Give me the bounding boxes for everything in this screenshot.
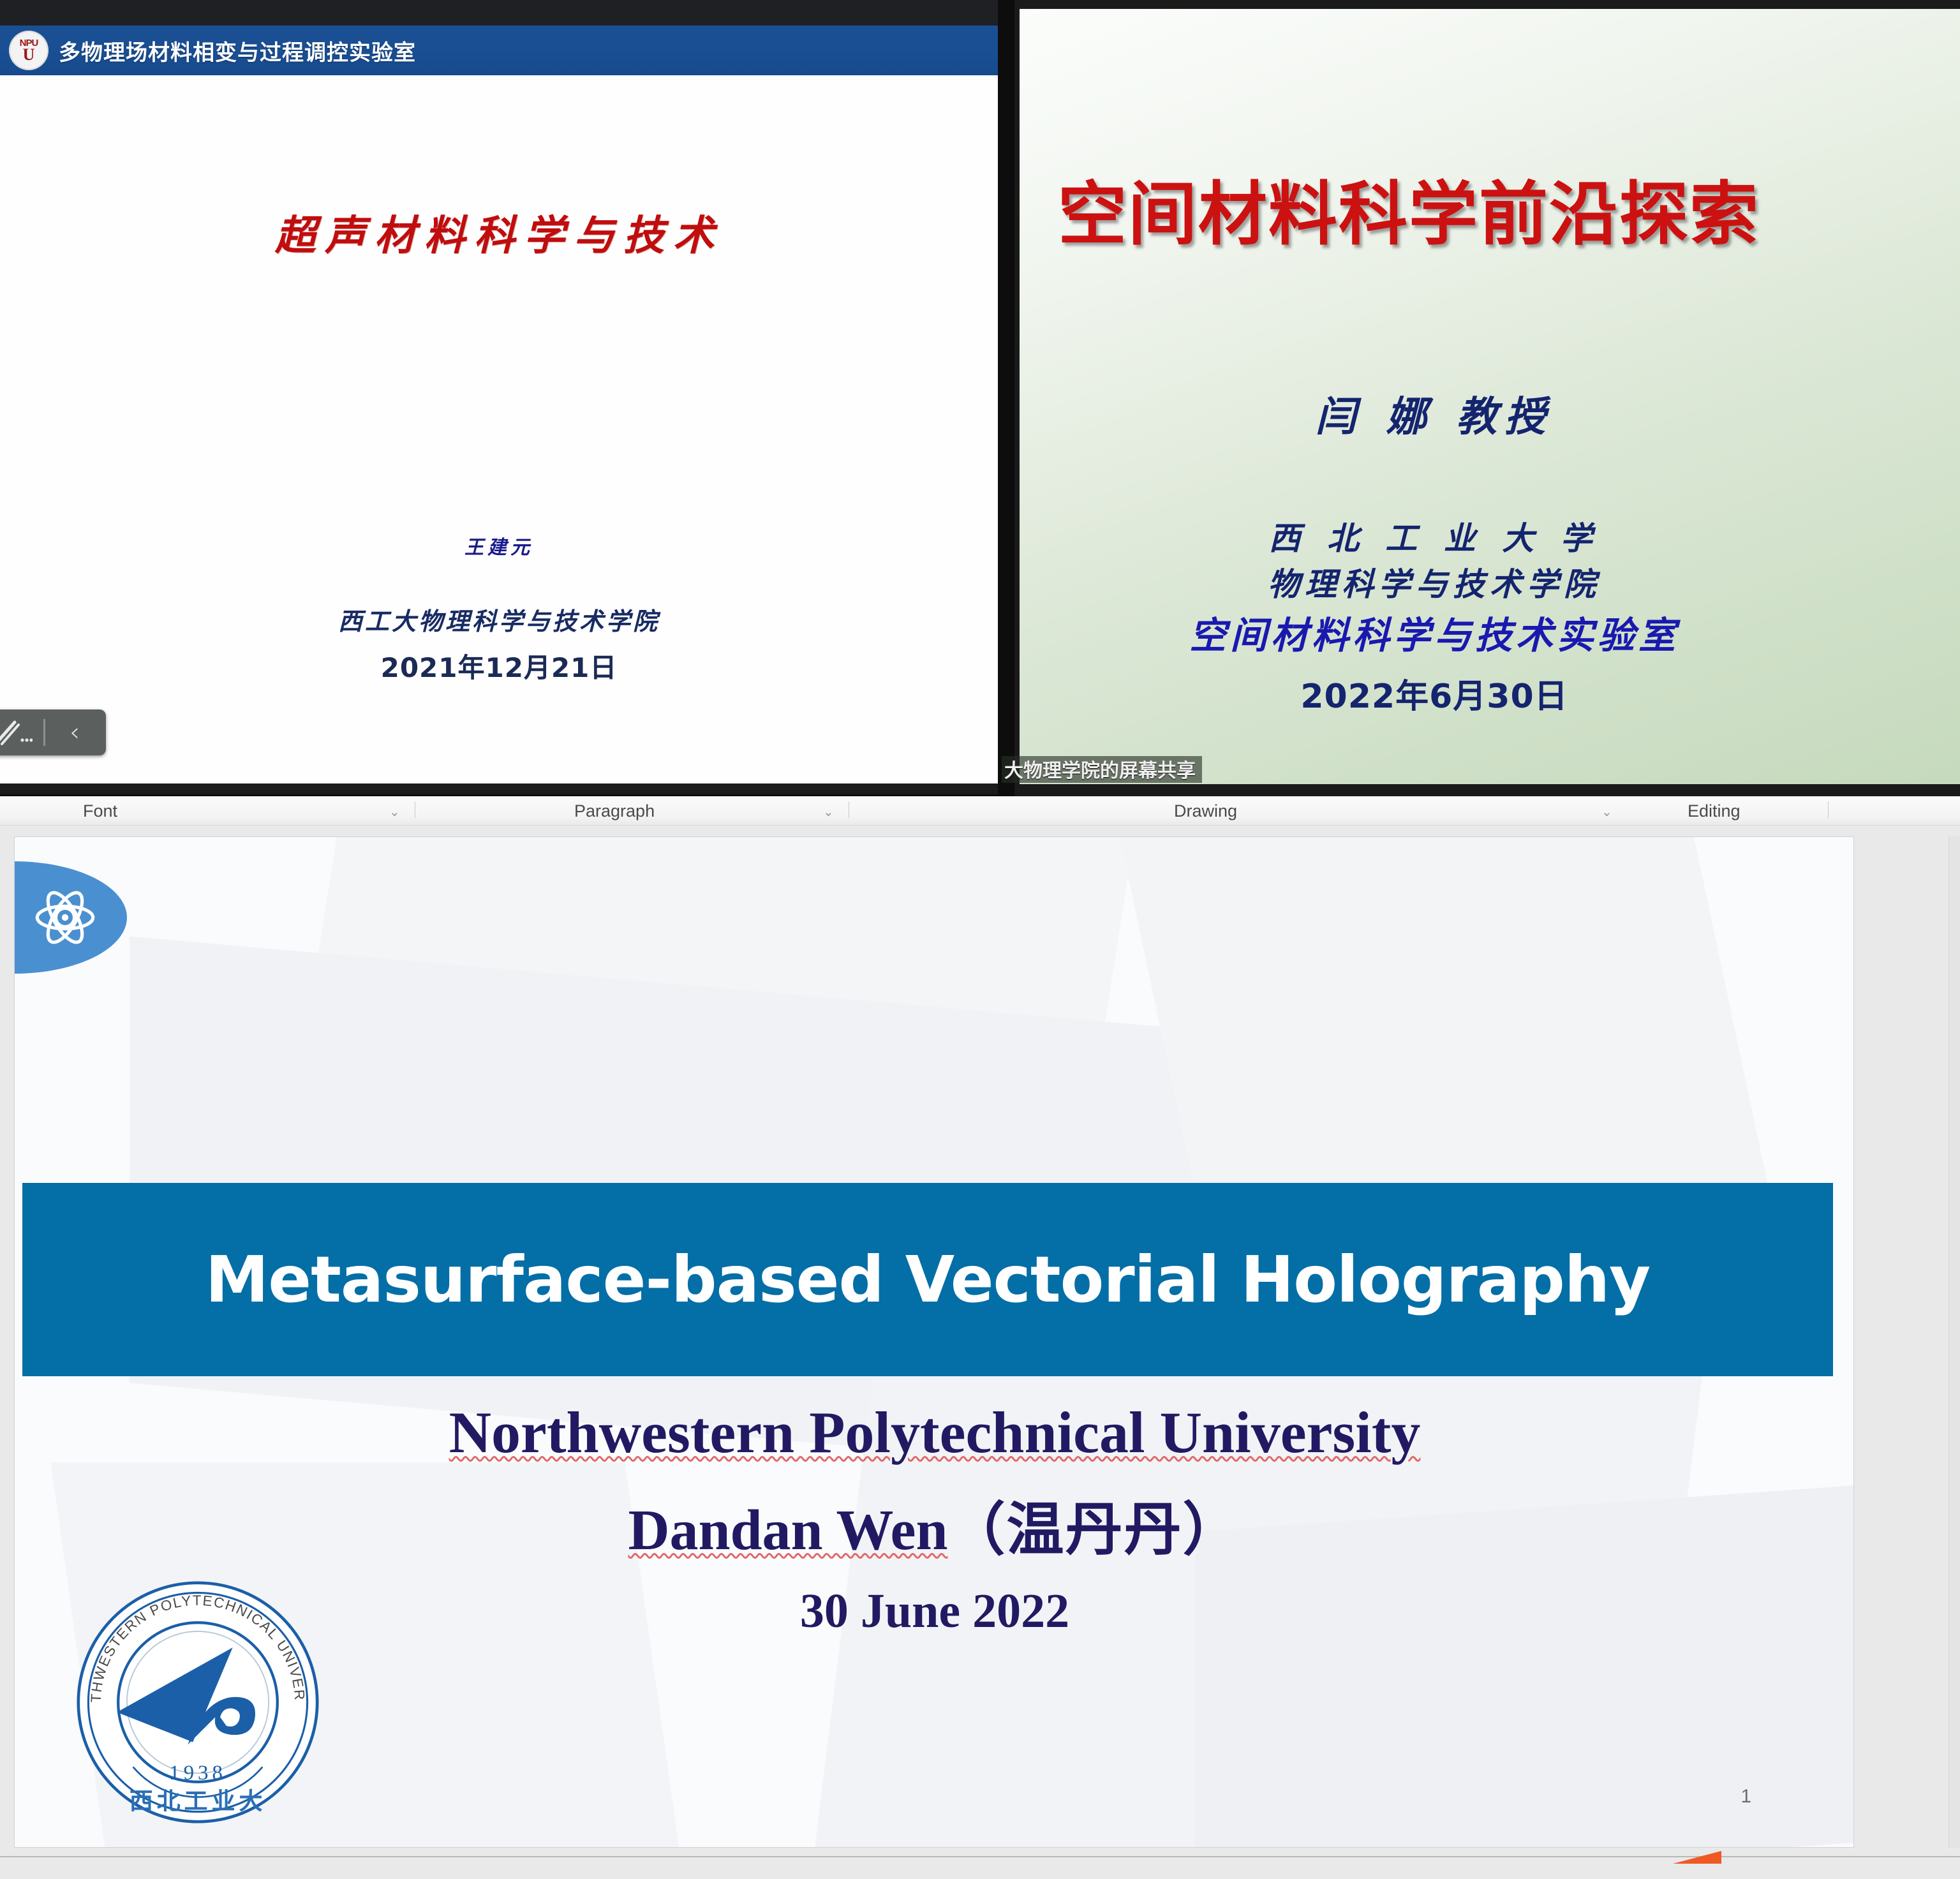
ppt-edit-area[interactable]: Metasurface-based Vectorial Holography N… <box>0 826 1960 1879</box>
slide-university-line: Northwestern Polytechnical University <box>15 1399 1854 1466</box>
status-bar-divider <box>0 1856 1960 1857</box>
right-slide-school: 物理科学与技术学院 <box>1020 559 1849 605</box>
left-shared-screen[interactable]: NPU U 多物理场材料相变与过程调控实验室 超声材料科学与技术 王建元 西工大… <box>0 0 998 794</box>
screen-share-badge: 大物理学院的屏幕共享 <box>1002 756 1202 783</box>
ribbon-divider-1 <box>415 801 415 818</box>
slide-author-cn: （温丹丹） <box>948 1499 1242 1562</box>
slide-page-number: 1 <box>1741 1786 1751 1808</box>
left-slide-title: 超声材料科学与技术 <box>0 203 998 262</box>
left-slide-body: 超声材料科学与技术 王建元 西工大物理科学与技术学院 2021年12月21日 <box>0 75 998 784</box>
ribbon-group-paragraph: Paragraph <box>574 799 655 822</box>
left-slide-author: 王建元 <box>0 531 998 560</box>
ribbon-group-drawing: Drawing <box>1174 799 1237 822</box>
slide-title-band[interactable]: Metasurface-based Vectorial Holography <box>22 1183 1833 1376</box>
left-slide-date: 2021年12月21日 <box>0 646 998 685</box>
lab-logo-bottom-text: U <box>23 48 35 62</box>
atom-icon <box>15 861 127 974</box>
ppt-ribbon-group-labels: Font ⌄ Paragraph ⌄ Drawing ⌄ Editing <box>0 796 1960 826</box>
ribbon-group-font: Font <box>83 799 117 822</box>
right-slide-body: 空间材料科学前沿探索 闫 娜 教授 西 北 工 业 大 学 物理科学与技术学院 … <box>1020 9 1960 784</box>
pen-icon[interactable] <box>0 709 43 755</box>
ribbon-divider-3 <box>1828 801 1829 818</box>
video-conference-strip: NPU U 多物理场材料相变与过程调控实验室 超声材料科学与技术 王建元 西工大… <box>0 0 1960 796</box>
left-window-topbar <box>0 0 998 26</box>
cursor-marker <box>1673 1851 1721 1864</box>
right-slide-title: 空间材料科学前沿探索 <box>1058 159 1960 258</box>
chevron-left-icon[interactable]: ‹ <box>45 709 104 755</box>
slide-university-text: Northwestern Polytechnical University <box>449 1400 1421 1465</box>
ribbon-dialog-launcher-paragraph[interactable]: ⌄ <box>823 804 834 820</box>
slide-title: Metasurface-based Vectorial Holography <box>205 1242 1650 1317</box>
lab-banner-title: 多物理场材料相变与过程调控实验室 <box>59 35 416 66</box>
ribbon-dialog-launcher-drawing[interactable]: ⌄ <box>1601 804 1612 820</box>
ribbon-group-editing: Editing <box>1688 799 1741 822</box>
annotation-toolbar[interactable]: ‹ <box>0 709 106 755</box>
right-slide-lab: 空间材料科学与技术实验室 <box>1020 605 1849 659</box>
slide-author-en: Dandan Wen <box>628 1499 947 1562</box>
slide-author-line: Dandan Wen（温丹丹） <box>15 1483 1854 1566</box>
right-shared-screen[interactable]: 空间材料科学前沿探索 闫 娜 教授 西 北 工 业 大 学 物理科学与技术学院 … <box>1014 0 1960 796</box>
vertical-scrollbar[interactable] <box>1949 836 1960 1848</box>
npu-seal-logo: NORTHWESTERN POLYTECHNICAL UNIVERSITY 19… <box>73 1578 322 1827</box>
ribbon-divider-2 <box>849 801 849 818</box>
svg-text:西北工业大: 西北工业大 <box>130 1787 266 1815</box>
lab-banner: NPU U 多物理场材料相变与过程调控实验室 <box>0 26 998 75</box>
right-slide-date: 2022年6月30日 <box>1020 669 1849 717</box>
ppt-slide-canvas[interactable]: Metasurface-based Vectorial Holography N… <box>14 836 1854 1848</box>
right-slide-university: 西 北 工 业 大 学 <box>1020 513 1849 559</box>
ribbon-dialog-launcher-font[interactable]: ⌄ <box>389 804 400 820</box>
screenshot-root: NPU U 多物理场材料相变与过程调控实验室 超声材料科学与技术 王建元 西工大… <box>0 0 1960 1879</box>
right-slide-speaker: 闫 娜 教授 <box>1020 384 1849 443</box>
svg-text:1938: 1938 <box>169 1761 226 1785</box>
lab-logo-icon: NPU U <box>9 31 48 70</box>
left-slide-organization: 西工大物理科学与技术学院 <box>0 602 998 637</box>
